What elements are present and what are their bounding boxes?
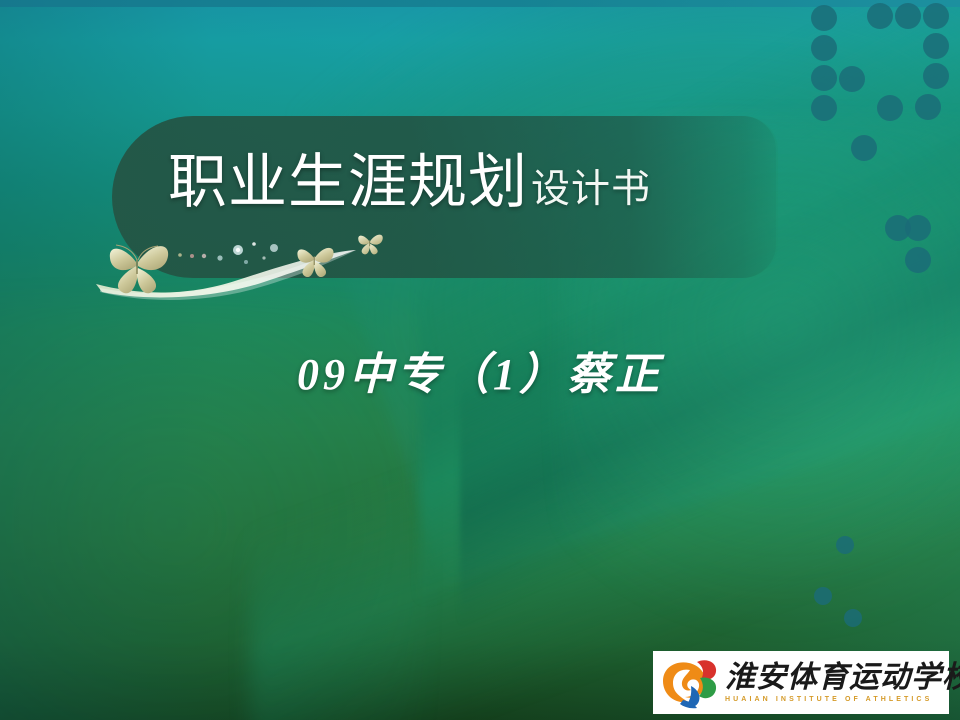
decorative-dot xyxy=(814,587,832,605)
decorative-dot xyxy=(877,95,903,121)
decorative-dot xyxy=(836,536,854,554)
decorative-dot xyxy=(811,65,837,91)
decorative-dot xyxy=(923,33,949,59)
decorative-dot xyxy=(905,247,931,273)
slide-root: 职业生涯规划 设计书 xyxy=(0,0,960,720)
school-emblem-icon xyxy=(659,656,721,710)
logo-text: 淮安体育运动学校 HUAIAN INSTITUTE OF ATHLETICS xyxy=(725,662,960,704)
title-main-text: 职业生涯规划 xyxy=(168,153,528,212)
decorative-dot xyxy=(923,3,949,29)
slide-subtitle: 09中专（1）蔡正 xyxy=(0,338,960,402)
decorative-dot xyxy=(923,63,949,89)
decorative-dot xyxy=(839,66,865,92)
decorative-dot xyxy=(895,3,921,29)
decorative-dot xyxy=(844,609,862,627)
title-sub-text: 设计书 xyxy=(531,170,651,209)
logo-name-cn: 淮安体育运动学校 xyxy=(725,662,960,694)
decorative-dot xyxy=(811,35,837,61)
logo-name-en: HUAIAN INSTITUTE OF ATHLETICS xyxy=(725,696,960,703)
decorative-dot xyxy=(811,5,837,31)
decorative-dot xyxy=(905,215,931,241)
page-title: 职业生涯规划 设计书 xyxy=(168,153,651,212)
decorative-dot xyxy=(851,135,877,161)
decorative-dot xyxy=(867,3,893,29)
decorative-dot xyxy=(811,95,837,121)
decorative-dot xyxy=(915,94,941,120)
school-logo: 淮安体育运动学校 HUAIAN INSTITUTE OF ATHLETICS xyxy=(653,651,949,714)
